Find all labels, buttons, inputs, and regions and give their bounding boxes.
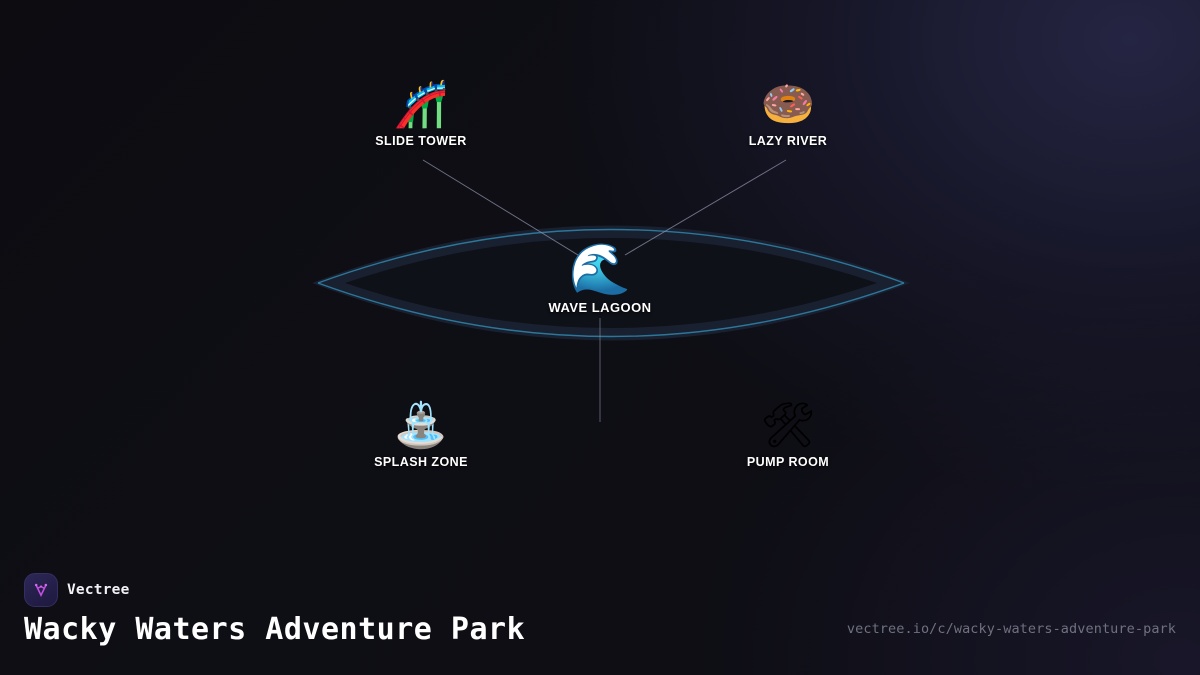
brand-block[interactable]: Vectree — [24, 573, 130, 607]
graph-node-wave-lagoon[interactable]: 🌊 WAVE LAGOON — [510, 240, 690, 315]
donut-icon: 🍩 — [698, 78, 878, 132]
share-url: vectree.io/c/wacky-waters-adventure-park — [847, 621, 1176, 637]
graph-node-label: PUMP ROOM — [698, 455, 878, 469]
screenshot-canvas: 🎢 SLIDE TOWER 🍩 LAZY RIVER 🌊 WAVE LAGOON… — [0, 0, 1200, 675]
graph-node-splash-zone[interactable]: ⛲ SPLASH ZONE — [331, 399, 511, 469]
vectree-logo-icon — [24, 573, 58, 607]
fountain-icon: ⛲ — [331, 399, 511, 453]
footer-bar: Vectree Wacky Waters Adventure Park vect… — [0, 560, 1200, 675]
roller-coaster-icon: 🎢 — [331, 78, 511, 132]
graph-node-label: WAVE LAGOON — [510, 300, 690, 315]
graph-node-label: LAZY RIVER — [698, 134, 878, 148]
graph-node-slide-tower[interactable]: 🎢 SLIDE TOWER — [331, 78, 511, 148]
graph-node-label: SLIDE TOWER — [331, 134, 511, 148]
brand-name: Vectree — [67, 582, 130, 598]
graph-node-lazy-river[interactable]: 🍩 LAZY RIVER — [698, 78, 878, 148]
hammer-and-wrench-icon: 🛠 — [698, 399, 878, 453]
graph-node-label: SPLASH ZONE — [331, 455, 511, 469]
graph-node-pump-room[interactable]: 🛠 PUMP ROOM — [698, 399, 878, 469]
page-title: Wacky Waters Adventure Park — [24, 612, 525, 647]
wave-icon: 🌊 — [510, 240, 690, 298]
